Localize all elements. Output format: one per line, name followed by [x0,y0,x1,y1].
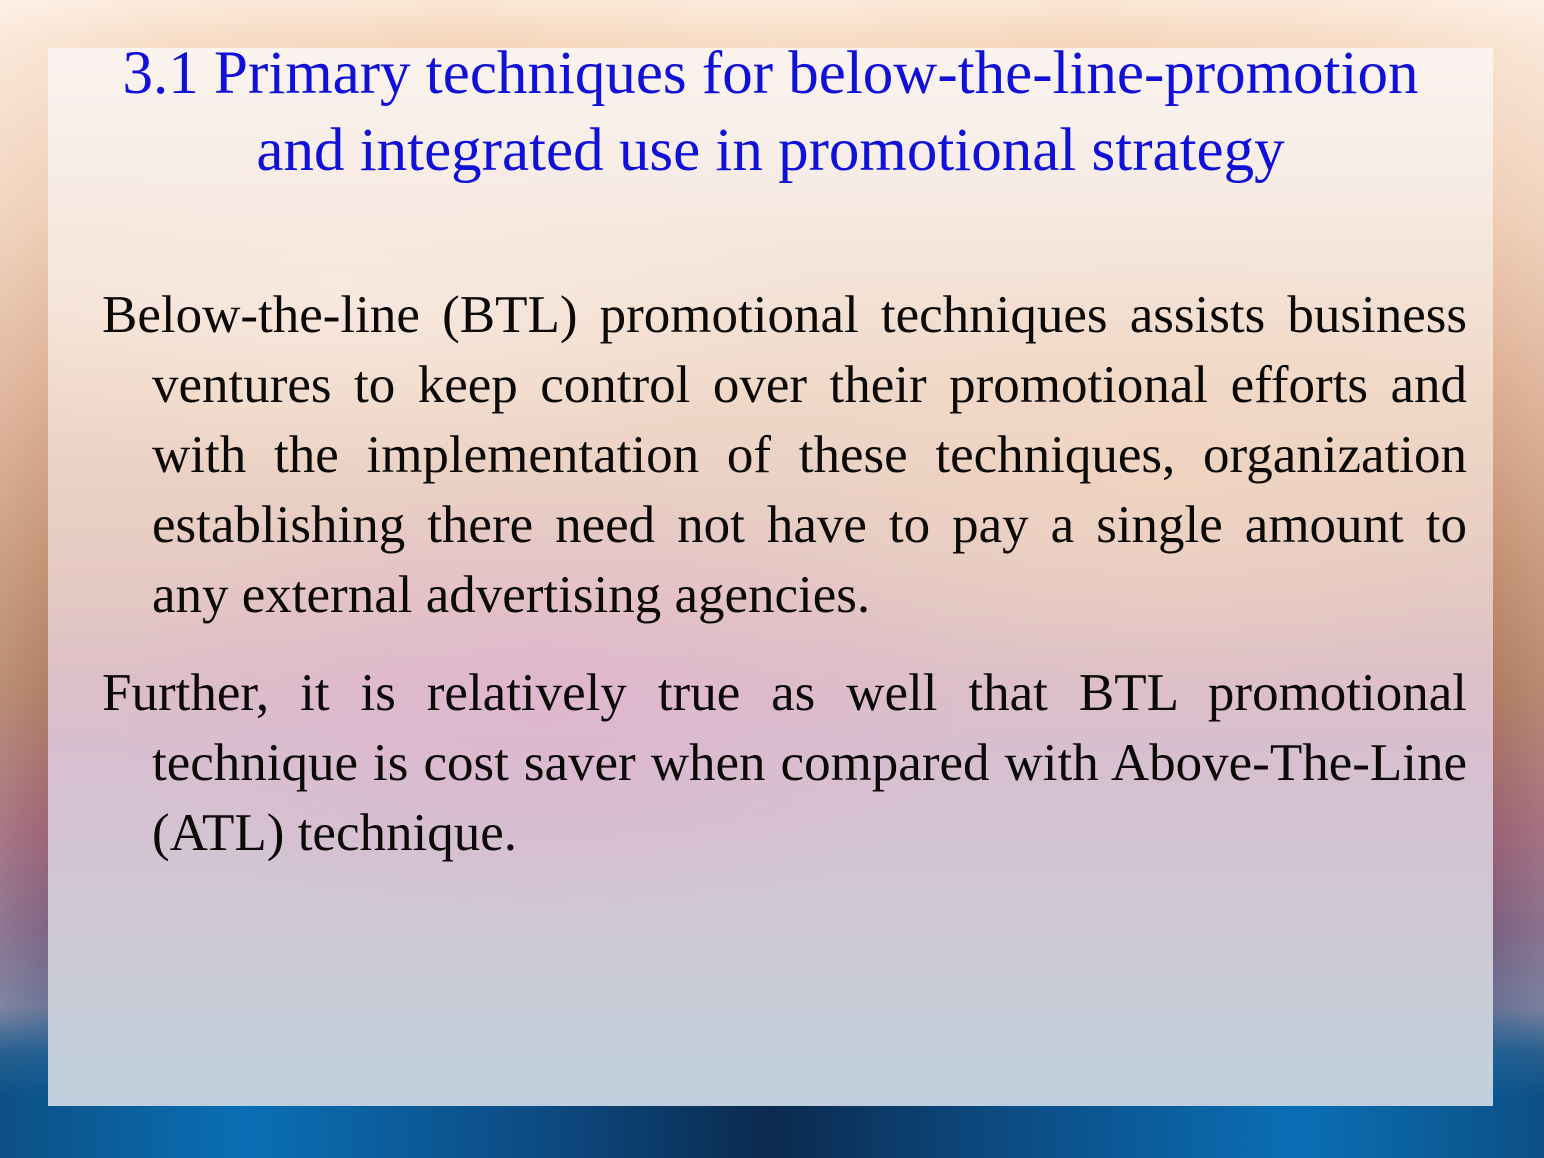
content-panel-inner: 3.1 Primary techniques for below-the-lin… [48,48,1493,1106]
body-paragraph-1: Below-the-line (BTL) promotional techniq… [72,280,1467,630]
slide-title: 3.1 Primary techniques for below-the-lin… [78,35,1463,189]
slide-body: Below-the-line (BTL) promotional techniq… [72,280,1467,868]
content-panel: 3.1 Primary techniques for below-the-lin… [48,48,1493,1106]
slide: 3.1 Primary techniques for below-the-lin… [0,0,1544,1158]
body-paragraph-2: Further, it is relatively true as well t… [72,658,1467,868]
